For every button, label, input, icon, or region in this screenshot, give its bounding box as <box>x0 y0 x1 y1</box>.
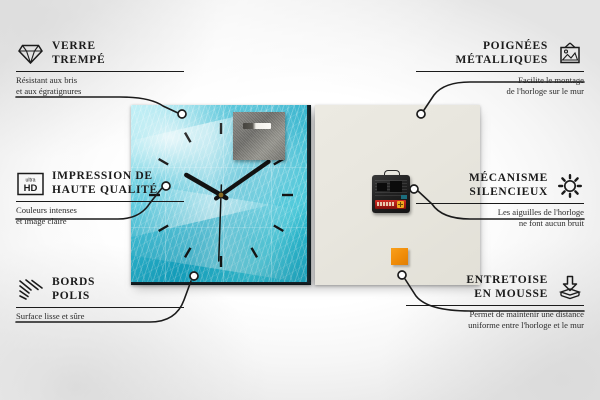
connector-verre-trempe <box>16 97 178 113</box>
feature-title-line1: VERRE <box>52 40 96 52</box>
feature-rule <box>406 305 584 306</box>
feature-rule <box>16 201 184 202</box>
feature-description: Facilite le montage de l'horloge sur le … <box>416 75 584 96</box>
feature-title-line2: EN MOUSSE <box>474 288 548 300</box>
svg-text:HD: HD <box>23 183 37 194</box>
feature-description: Résistant aux bris et aux égratignures <box>16 75 184 96</box>
feature-title-line1: POIGNÉES <box>483 40 548 52</box>
feature-title-line2: TREMPÉ <box>52 54 105 66</box>
feature-title-line1: BORDS <box>52 276 95 288</box>
feature-title-line2: POLIS <box>52 290 90 302</box>
polished-edge-icon <box>16 277 44 303</box>
feature-rule <box>416 203 584 204</box>
feature-mecanisme-silencieux: MÉCANISME SILENCIEUX Les aiguilles de l'… <box>416 172 584 228</box>
feature-title-line2: SILENCIEUX <box>469 186 548 198</box>
feature-title-line2: HAUTE QUALITÉ <box>52 184 158 196</box>
foam-spacer-arrow-icon <box>556 275 584 301</box>
feature-poignees-metalliques: POIGNÉES MÉTALLIQUES Facilite le montage… <box>416 40 584 96</box>
diamond-icon <box>16 41 44 67</box>
feature-bords-polis: BORDS POLIS Surface lisse et sûre <box>16 276 184 322</box>
feature-description: Couleurs intenses et image claire <box>16 205 184 226</box>
feature-title-line1: MÉCANISME <box>469 172 548 184</box>
c-poignees-dot <box>417 110 425 118</box>
feature-rule <box>416 71 584 72</box>
wall-hanging-frame-icon <box>556 41 584 67</box>
feature-description: Surface lisse et sûre <box>16 311 184 322</box>
feature-description: Permet de maintenir une distance uniform… <box>406 309 584 330</box>
gear-icon <box>556 173 584 199</box>
feature-title-line1: IMPRESSION DE <box>52 170 153 182</box>
feature-description: Les aiguilles de l'horloge ne font aucun… <box>416 207 584 228</box>
feature-rule <box>16 71 184 72</box>
c-verre-trempe-dot <box>178 110 186 118</box>
feature-rule <box>16 307 184 308</box>
c-entretoise-dot <box>398 271 406 279</box>
feature-entretoise-en-mousse: ENTRETOISE EN MOUSSE Permet de maintenir… <box>406 274 584 330</box>
c-bords-polis-dot <box>190 272 198 280</box>
infographic-canvas: VERRE TREMPÉ Résistant aux bris et aux é… <box>0 0 600 400</box>
feature-title-line1: ENTRETOISE <box>466 274 548 286</box>
feature-impression-haute-qualite: ultra HD IMPRESSION DE HAUTE QUALITÉ Cou… <box>16 170 184 226</box>
feature-title-line2: MÉTALLIQUES <box>456 54 548 66</box>
feature-verre-trempe: VERRE TREMPÉ Résistant aux bris et aux é… <box>16 40 184 96</box>
ultra-hd-icon: ultra HD <box>16 171 44 197</box>
